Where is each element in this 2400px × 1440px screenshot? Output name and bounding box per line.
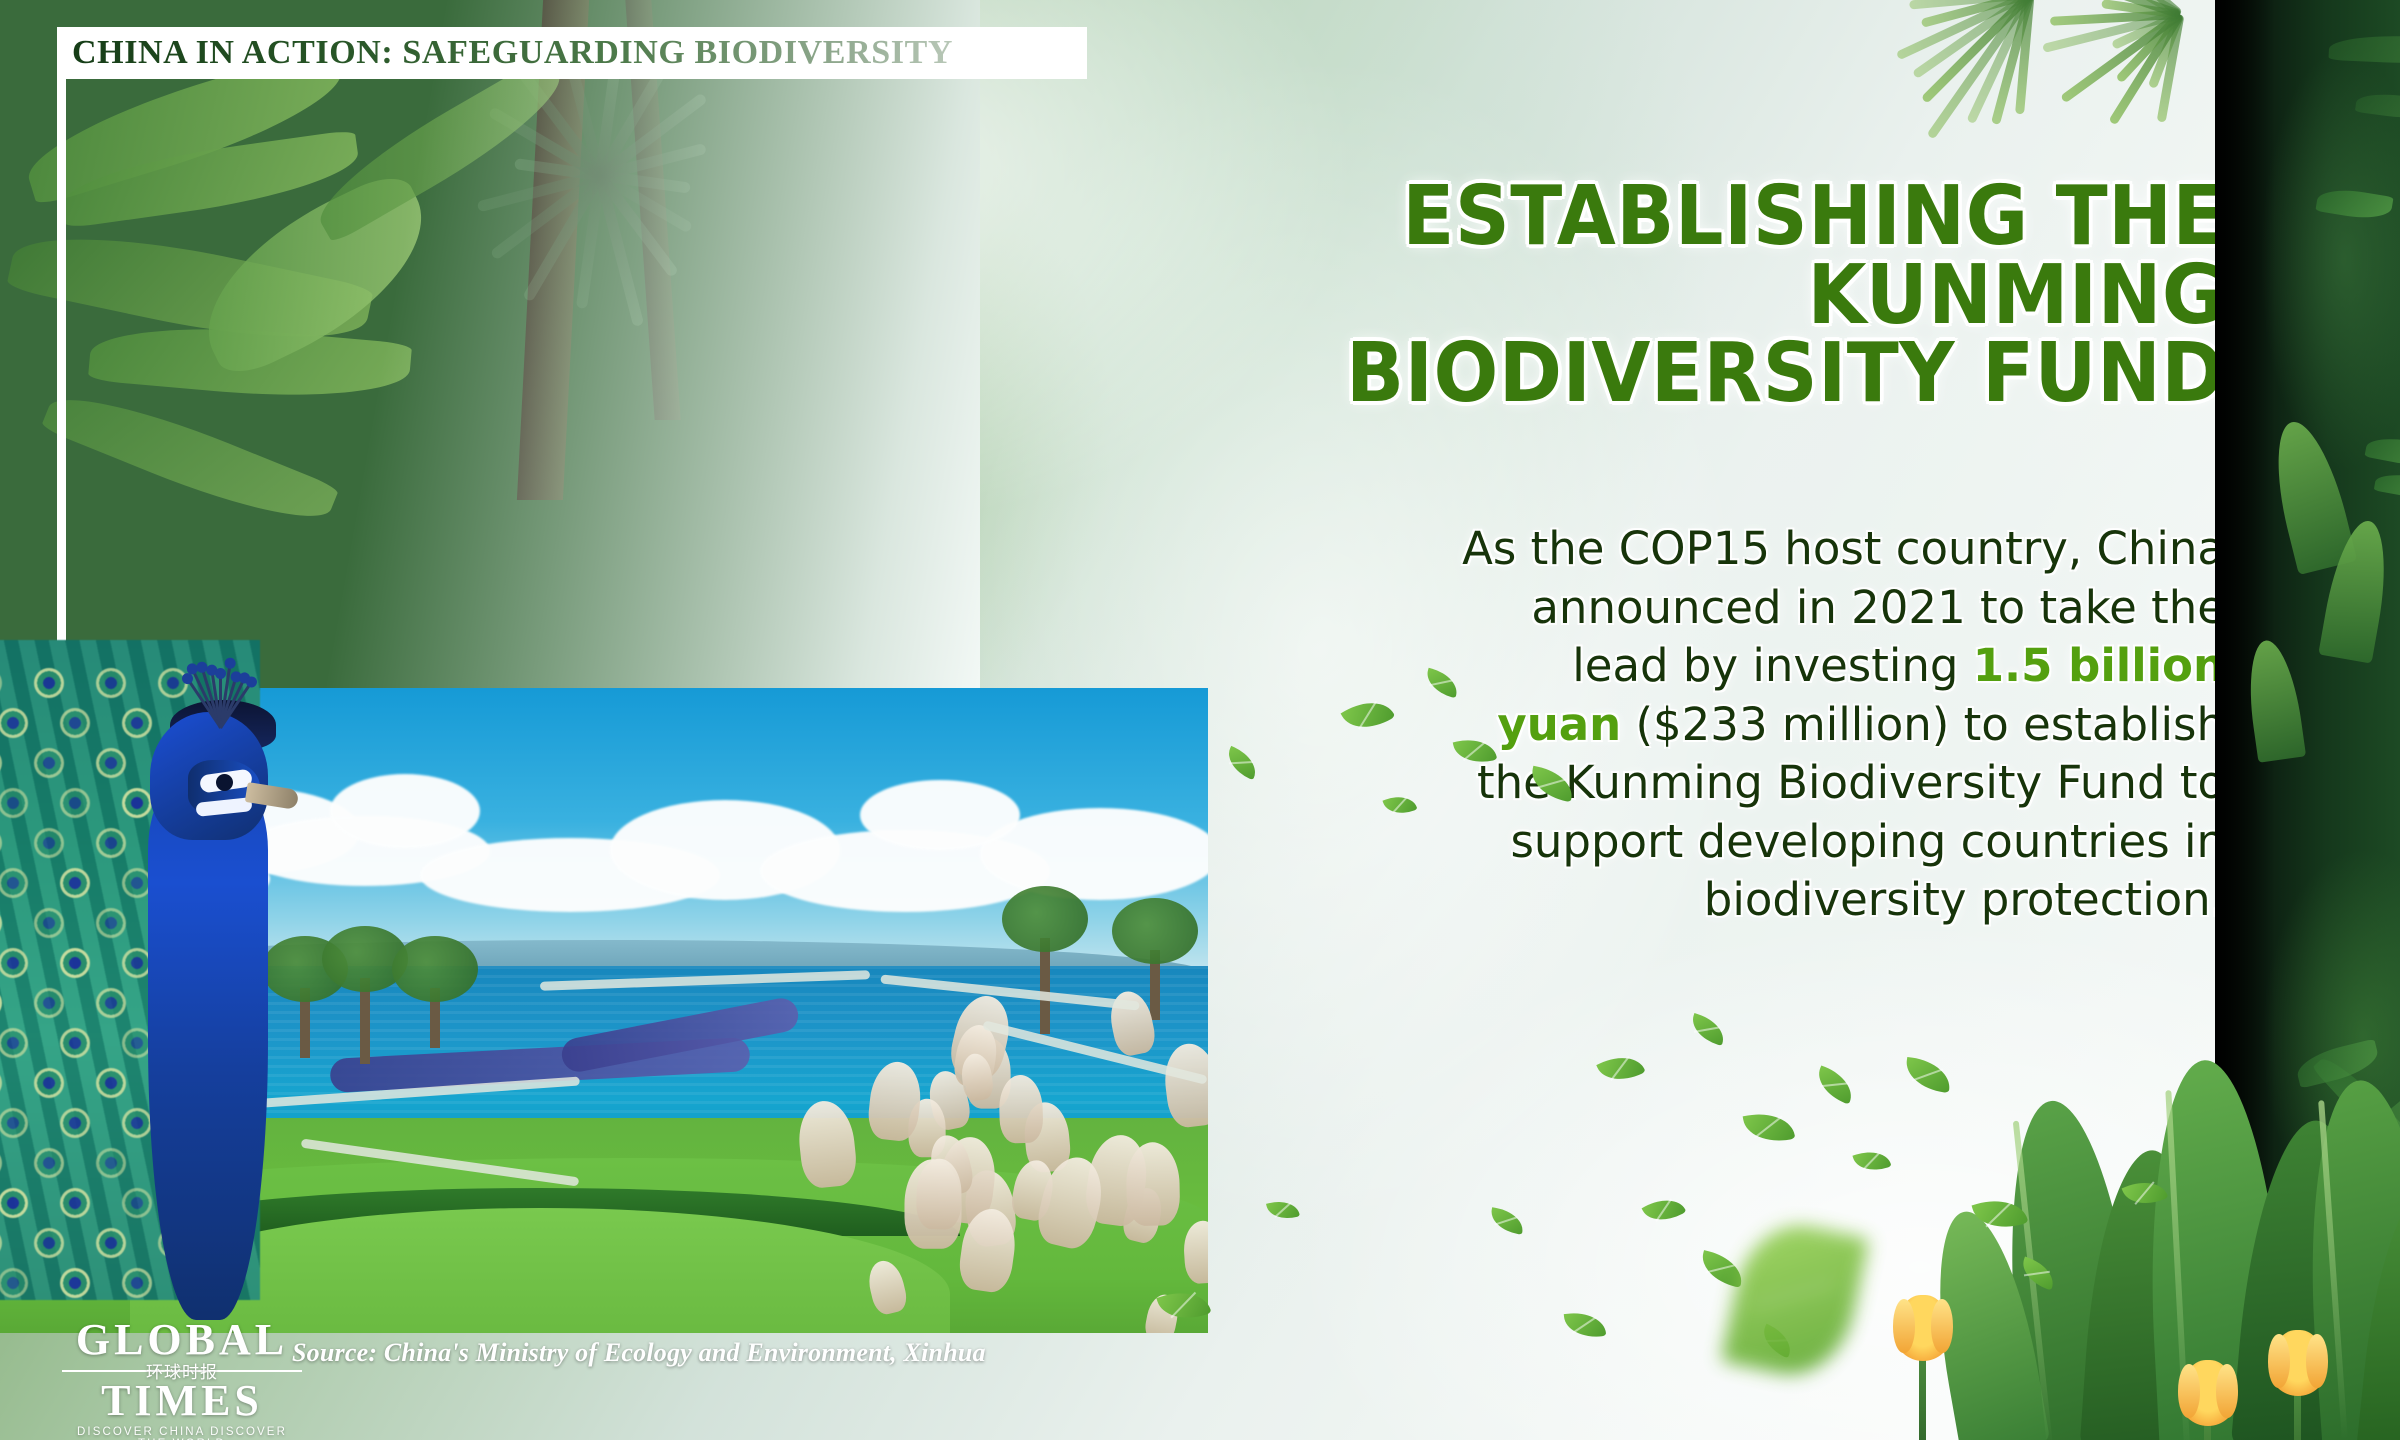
peacock-feather-eye xyxy=(96,668,126,698)
peacock-feather-eye xyxy=(0,828,2,858)
park-tree xyxy=(300,988,310,1058)
peacock-feather-eye xyxy=(34,1068,64,1098)
park-tree xyxy=(1040,938,1050,1034)
park-tree xyxy=(1150,950,1160,1020)
peacock-feather-eye xyxy=(0,1148,2,1178)
logo-chinese-name: 环球时报 xyxy=(140,1358,224,1383)
peacock-feather-eye xyxy=(122,788,152,818)
tree-crown xyxy=(1002,886,1088,952)
peacock-crest xyxy=(184,662,254,728)
peacock-feather-eye xyxy=(0,988,2,1018)
peacock-feather-eye xyxy=(60,1028,90,1058)
peacock-feather-eye xyxy=(0,748,2,778)
peacock-feather-eye xyxy=(34,908,64,938)
palm-frond xyxy=(57,129,362,228)
peacock-feather-eye xyxy=(96,828,126,858)
peacock-feather-eye xyxy=(0,1228,2,1258)
jungle-leaf xyxy=(2365,433,2400,471)
peacock-feather-eye xyxy=(34,668,64,698)
peacock-feather-eye xyxy=(0,1188,28,1218)
peacock-feather-eye xyxy=(60,788,90,818)
palm-frond xyxy=(304,54,575,244)
peacock-feather-eye xyxy=(60,708,90,738)
global-times-logo: GLOBAL 环球时报 TIMES DISCOVER CHINA DISCOVE… xyxy=(62,1318,302,1416)
source-attribution: Source: China's Ministry of Ecology and … xyxy=(292,1338,986,1368)
peacock-feather-eye xyxy=(0,1068,2,1098)
peacock-feather-eye xyxy=(34,1228,64,1258)
tulip-flower xyxy=(2270,1330,2326,1396)
peacock-feather-eye xyxy=(122,708,152,738)
peacock-feather-eye xyxy=(60,1108,90,1138)
park-tree xyxy=(360,978,370,1064)
peacock-eye xyxy=(216,774,233,791)
logo-tagline: DISCOVER CHINA DISCOVER THE WORLD xyxy=(62,1426,302,1440)
peacock-feather-eye xyxy=(96,908,126,938)
peacock-feather-eye xyxy=(96,1228,126,1258)
peacock-feather-eye xyxy=(34,1148,64,1178)
peacock-feather-eye xyxy=(0,788,28,818)
tulip-flower xyxy=(1895,1295,1951,1361)
peacock-feather-eye xyxy=(60,1188,90,1218)
peacock-feather-eye xyxy=(122,1268,152,1298)
cloud xyxy=(330,774,480,848)
peacock-feather-eye xyxy=(0,948,28,978)
cloud xyxy=(860,780,1020,850)
peacock-feather-eye xyxy=(34,988,64,1018)
peacock-feather-eye xyxy=(60,868,90,898)
peacock-feather-eye xyxy=(60,948,90,978)
tree-crown xyxy=(1112,898,1198,964)
logo-times-text: TIMES xyxy=(62,1378,302,1424)
peacock-feather-eye xyxy=(34,828,64,858)
fern-cluster xyxy=(2180,10,2380,170)
park-tree xyxy=(430,988,440,1048)
logo-divider: 环球时报 xyxy=(62,1362,302,1378)
peacock-feather-eye xyxy=(96,1068,126,1098)
tree-crown xyxy=(392,936,478,1002)
pampas-grass xyxy=(915,1158,962,1230)
logo-global-text: GLOBAL xyxy=(62,1318,302,1362)
peacock-feather-eye xyxy=(96,988,126,1018)
peacock-feather-eye xyxy=(0,708,28,738)
peacock-feather-eye xyxy=(96,1148,126,1178)
palm-frond xyxy=(40,376,339,540)
peacock-feather-eye xyxy=(122,1108,152,1138)
peacock-feather-eye xyxy=(60,1268,90,1298)
kicker-text: CHINA IN ACTION: SAFEGUARDING BIODIVERSI… xyxy=(72,28,953,78)
palm-burst xyxy=(470,40,730,300)
peacock-feather-eye xyxy=(0,908,2,938)
tulip-flower xyxy=(2180,1360,2236,1426)
pampas-grass xyxy=(998,1075,1043,1144)
jungle-leaf xyxy=(2373,469,2400,502)
peacock-feather-eye xyxy=(34,748,64,778)
page-title: ESTABLISHING THE KUNMING BIODIVERSITY FU… xyxy=(997,178,2225,414)
peacock-feather-eye xyxy=(0,868,28,898)
title-line-1: ESTABLISHING THE KUNMING xyxy=(997,178,2225,335)
peacock-feather-eye xyxy=(0,1108,28,1138)
peacock-feather-eye xyxy=(122,1188,152,1218)
jungle-leaf xyxy=(2315,185,2393,222)
palm-frond xyxy=(88,316,412,408)
flower-stem xyxy=(1919,1349,1926,1440)
peacock-feather-eye xyxy=(0,668,2,698)
title-line-2: BIODIVERSITY FUND xyxy=(997,335,2225,414)
peacock-feather-eye xyxy=(96,748,126,778)
palm-frond xyxy=(6,213,374,362)
palm-frond xyxy=(176,166,453,383)
body-paragraph: As the COP15 host country, China announc… xyxy=(1445,520,2225,930)
infographic-poster: CHINA IN ACTION: SAFEGUARDING BIODIVERSI… xyxy=(0,0,2400,1440)
peacock-feather-eye xyxy=(0,1268,28,1298)
peacock-feather-eye xyxy=(0,1028,28,1058)
peacock-body xyxy=(148,760,268,1320)
